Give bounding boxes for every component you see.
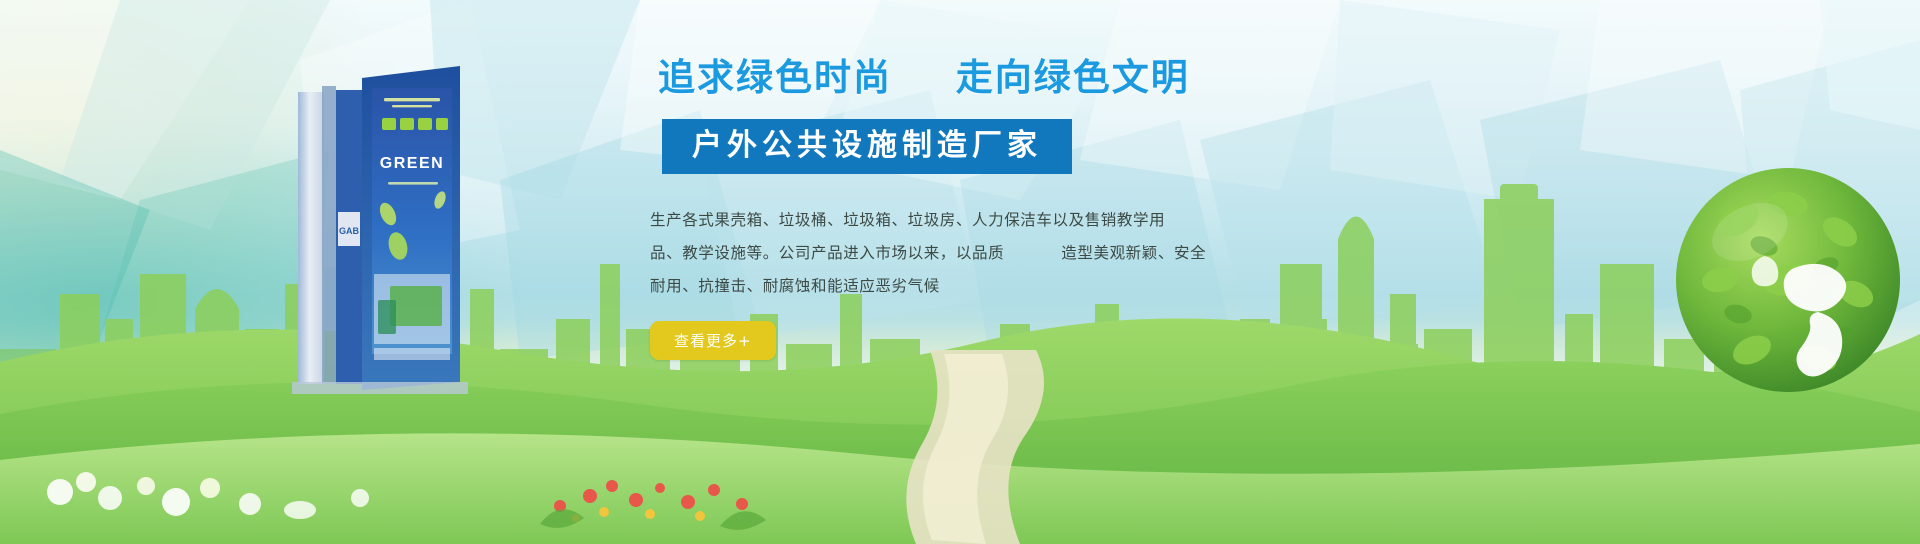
- banner-copy: 追求绿色时尚 走向绿色文明 户外公共设施制造厂家 生产各式果壳箱、垃圾桶、垃圾箱…: [640, 58, 1260, 360]
- paragraph-line-2b: 造型美观新颖、安全: [1061, 244, 1206, 262]
- paragraph-line-3: 耐用、抗撞击、耐腐蚀和能适应恶劣气候: [650, 270, 1260, 303]
- description-paragraph: 生产各式果壳箱、垃圾桶、垃圾箱、垃圾房、人力保洁车以及售销教学用 品、教学设施等…: [650, 204, 1260, 303]
- foreground-flowers: [0, 424, 1920, 544]
- kiosk-billboard: GREEN GAB: [292, 64, 468, 394]
- headline-left: 追求绿色时尚: [658, 56, 892, 99]
- paragraph-line-2a: 品、教学设施等。公司产品进入市场以来，以品质: [650, 244, 1004, 262]
- page-title: 追求绿色时尚 走向绿色文明: [658, 58, 1260, 99]
- svg-text:GAB: GAB: [339, 226, 360, 236]
- green-globe: [1668, 160, 1908, 400]
- view-more-button[interactable]: 查看更多+: [650, 321, 776, 360]
- subtitle-bar: 户外公共设施制造厂家: [662, 119, 1072, 174]
- svg-text:GREEN: GREEN: [380, 155, 444, 172]
- headline-right: 走向绿色文明: [956, 56, 1190, 99]
- hero-banner: GREEN GAB: [0, 0, 1920, 544]
- paragraph-line-2: 品、教学设施等。公司产品进入市场以来，以品质 造型美观新颖、安全: [650, 237, 1260, 270]
- paragraph-line-1: 生产各式果壳箱、垃圾桶、垃圾箱、垃圾房、人力保洁车以及售销教学用: [650, 204, 1260, 237]
